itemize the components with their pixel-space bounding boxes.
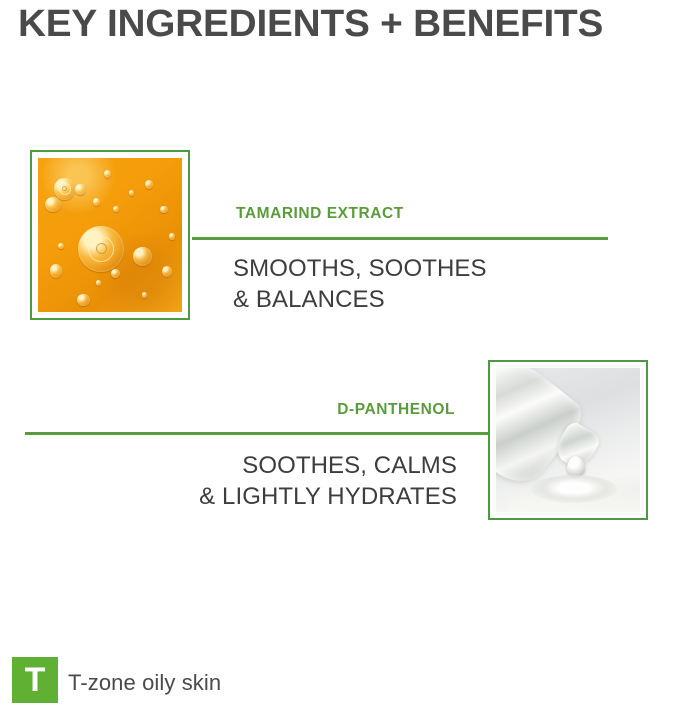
ingredient-image-tamarind-extract [30,150,190,320]
ingredient-benefit-tamarind-extract: SMOOTHS, SOOTHES & BALANCES [233,253,487,315]
ingredient-image-d-panthenol [488,360,648,520]
divider-rule-d-panthenol [25,432,488,435]
skin-type-badge-letter: T [25,663,46,697]
page-title: KEY INGREDIENTS + BENEFITS [18,2,676,46]
honey-texture-icon [38,158,182,312]
ingredient-name-d-panthenol: D-PANTHENOL [337,401,455,419]
ingredient-name-tamarind-extract: TAMARIND EXTRACT [236,205,404,223]
dropper-texture-icon [496,368,640,512]
ingredient-benefit-d-panthenol: SOOTHES, CALMS & LIGHTLY HYDRATES [199,450,457,512]
skin-type-label: T-zone oily skin [68,670,221,696]
ingredient-image-inner [38,158,182,312]
ingredient-image-inner [496,368,640,512]
divider-rule-tamarind [192,237,608,240]
skin-type-badge: T [12,657,58,703]
